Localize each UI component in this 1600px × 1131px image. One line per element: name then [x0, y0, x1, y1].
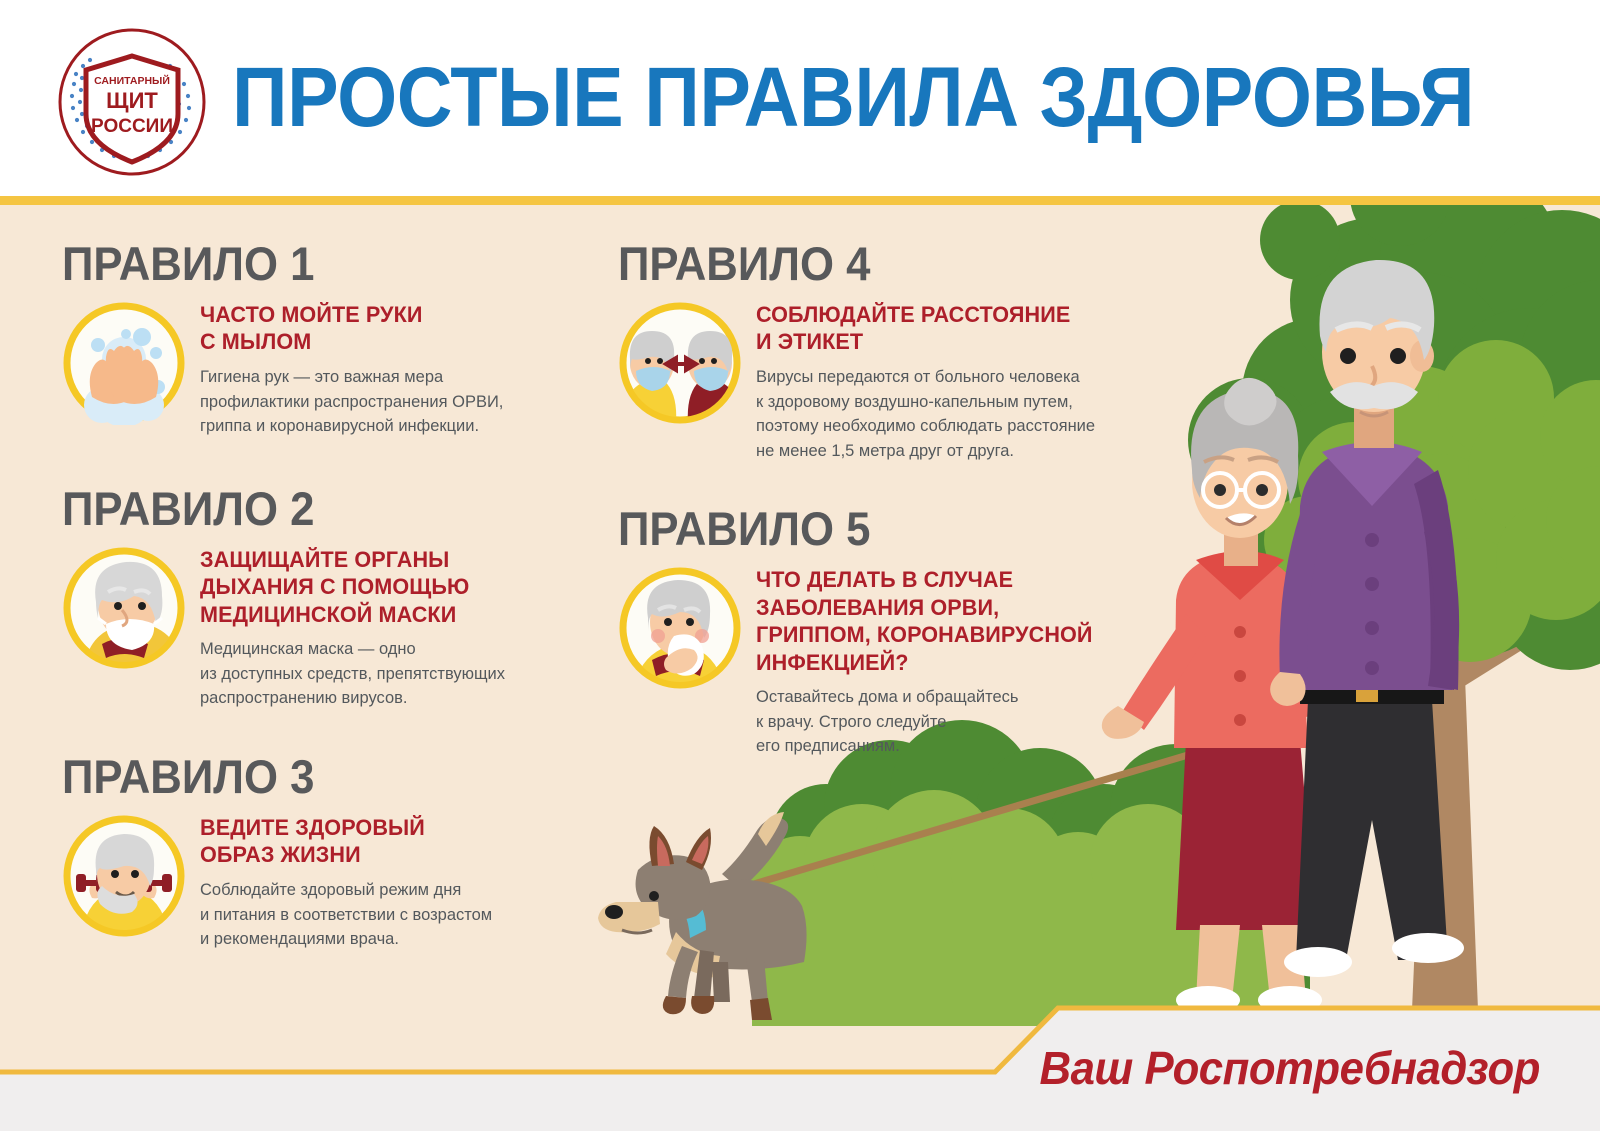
rule-card-5: ПРАВИЛО 5: [618, 505, 1148, 759]
rules-column-right: ПРАВИЛО 4: [618, 240, 1148, 767]
rule-description-4: Вирусы передаются от больного человека к…: [756, 365, 1136, 464]
rule-card-2: ПРАВИЛО 2: [62, 485, 582, 711]
rule-description-1: Гигиена рук — это важная мера профилакти…: [200, 365, 571, 439]
footer-brand-text: Ваш Роспотребнадзор: [77, 1018, 1540, 1118]
rule-number-2: ПРАВИЛО 2: [62, 485, 546, 532]
rule-description-3: Соблюдайте здоровый режим дня и питания …: [200, 878, 571, 952]
rule-heading-5: ЧТО ДЕЛАТЬ В СЛУЧАЕ ЗАБОЛЕВАНИЯ ОРВИ, ГР…: [756, 566, 1132, 676]
rule-number-1: ПРАВИЛО 1: [62, 240, 546, 287]
page-title: ПРОСТЫЕ ПРАВИЛА ЗДОРОВЬЯ: [232, 42, 1456, 152]
logo-line-2: ЩИТ: [106, 88, 158, 113]
rule-description-2: Медицинская маска — одно из доступных ср…: [200, 637, 571, 711]
rule-card-4: ПРАВИЛО 4: [618, 240, 1148, 463]
rule-number-5: ПРАВИЛО 5: [618, 505, 1111, 552]
poster: САНИТАРНЫЙ ЩИТ РОССИИ ПРОСТЫЕ ПРАВИЛА ЗД…: [0, 0, 1600, 1131]
rule-card-3: ПРАВИЛО 3: [62, 753, 582, 952]
rule-number-3: ПРАВИЛО 3: [62, 753, 546, 800]
rule-number-4: ПРАВИЛО 4: [618, 240, 1111, 287]
person-wearing-medical-mask-icon: [62, 546, 186, 670]
sick-person-with-handkerchief-icon: [618, 566, 742, 690]
social-distancing-two-people-icon: [618, 301, 742, 425]
rule-description-5: Оставайтесь дома и обращайтесь к врачу. …: [756, 685, 1136, 759]
rule-heading-3: ВЕДИТЕ ЗДОРОВЫЙ ОБРАЗ ЖИЗНИ: [200, 814, 567, 869]
sanitary-shield-of-russia-logo: САНИТАРНЫЙ ЩИТ РОССИИ: [52, 22, 212, 182]
rule-card-1: ПРАВИЛО 1: [62, 240, 582, 439]
rule-heading-2: ЗАЩИЩАЙТЕ ОРГАНЫ ДЫХАНИЯ С ПОМОЩЬЮ МЕДИЦ…: [200, 546, 567, 628]
logo-line-3: РОССИИ: [91, 116, 173, 137]
rule-heading-4: СОБЛЮДАЙТЕ РАССТОЯНИЕ И ЭТИКЕТ: [756, 301, 1132, 356]
logo-line-1: САНИТАРНЫЙ: [94, 74, 170, 87]
header-bar: САНИТАРНЫЙ ЩИТ РОССИИ ПРОСТЫЕ ПРАВИЛА ЗД…: [0, 0, 1600, 196]
elderly-man-with-dumbbells-icon: [62, 814, 186, 938]
rule-heading-1: ЧАСТО МОЙТЕ РУКИ С МЫЛОМ: [200, 301, 567, 356]
header-gold-divider: [0, 196, 1600, 205]
rules-column-left: ПРАВИЛО 1: [62, 240, 582, 960]
washing-hands-with-soap-icon: [62, 301, 186, 425]
